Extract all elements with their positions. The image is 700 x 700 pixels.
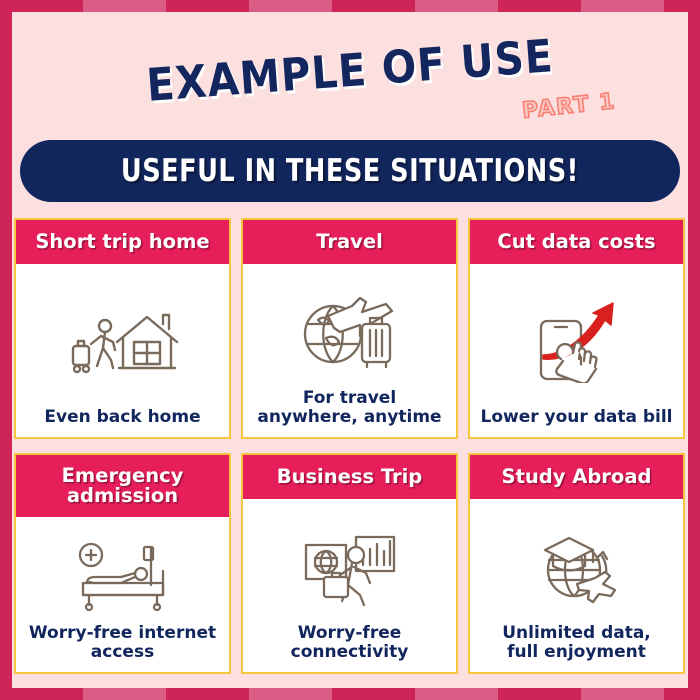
- card-header: Travel: [243, 220, 456, 264]
- graduation-globe-plane-icon: [474, 509, 679, 624]
- poster-root: EXAMPLE OF USE PART 1 USEFUL IN THESE SI…: [0, 0, 700, 700]
- situations-banner-text: USEFUL IN THESE SITUATIONS!: [121, 153, 579, 189]
- card-header-label: Short trip home: [35, 232, 209, 252]
- card-header-label: Business Trip: [277, 467, 423, 487]
- card-caption: Worry-free internet access: [27, 624, 218, 664]
- left-side-border: [0, 0, 12, 700]
- card-body: For travel anywhere, anytime: [243, 264, 456, 437]
- right-side-border: [688, 0, 700, 700]
- traveler-with-luggage-house-icon: [20, 274, 225, 408]
- card-header-label: Emergency admission: [62, 466, 184, 506]
- phone-hand-rising-arrow-icon: [474, 274, 679, 408]
- card-header-label: Travel: [316, 232, 383, 252]
- poster-inner-canvas: EXAMPLE OF USE PART 1 USEFUL IN THESE SI…: [12, 12, 688, 688]
- card-header: Business Trip: [243, 455, 456, 499]
- situations-banner: USEFUL IN THESE SITUATIONS!: [20, 140, 680, 202]
- bottom-stripe-border: [0, 688, 700, 700]
- card-caption: Worry-free connectivity: [289, 624, 411, 664]
- hospital-bed-patient-icon: [20, 527, 225, 624]
- card-emergency-admission[interactable]: Emergency admission: [14, 453, 231, 674]
- card-header: Short trip home: [16, 220, 229, 264]
- card-caption: Lower your data bill: [478, 408, 674, 429]
- card-body: Unlimited data, full enjoyment: [470, 499, 683, 672]
- card-study-abroad[interactable]: Study Abroad: [468, 453, 685, 674]
- top-stripe-border: [0, 0, 700, 12]
- card-body: Even back home: [16, 264, 229, 437]
- card-caption: For travel anywhere, anytime: [255, 389, 443, 429]
- card-header-label: Cut data costs: [497, 232, 655, 252]
- card-header: Emergency admission: [16, 455, 229, 517]
- card-body: Lower your data bill: [470, 264, 683, 437]
- poster-header: EXAMPLE OF USE PART 1: [12, 12, 688, 132]
- card-header: Study Abroad: [470, 455, 683, 499]
- card-business-trip[interactable]: Business Trip: [241, 453, 458, 674]
- card-travel[interactable]: Travel: [241, 218, 458, 439]
- card-caption: Unlimited data, full enjoyment: [500, 624, 653, 664]
- part-badge: PART 1: [521, 89, 617, 124]
- card-body: Worry-free internet access: [16, 517, 229, 672]
- globe-plane-suitcase-icon: [247, 274, 452, 389]
- situation-cards-grid: Short trip home: [14, 218, 686, 674]
- card-header-label: Study Abroad: [502, 467, 652, 487]
- card-short-trip-home[interactable]: Short trip home: [14, 218, 231, 439]
- card-body: Worry-free connectivity: [243, 499, 456, 672]
- card-header: Cut data costs: [470, 220, 683, 264]
- card-cut-data-costs[interactable]: Cut data costs: [468, 218, 685, 439]
- businessperson-chart-briefcase-icon: [247, 509, 452, 624]
- card-caption: Even back home: [42, 408, 202, 429]
